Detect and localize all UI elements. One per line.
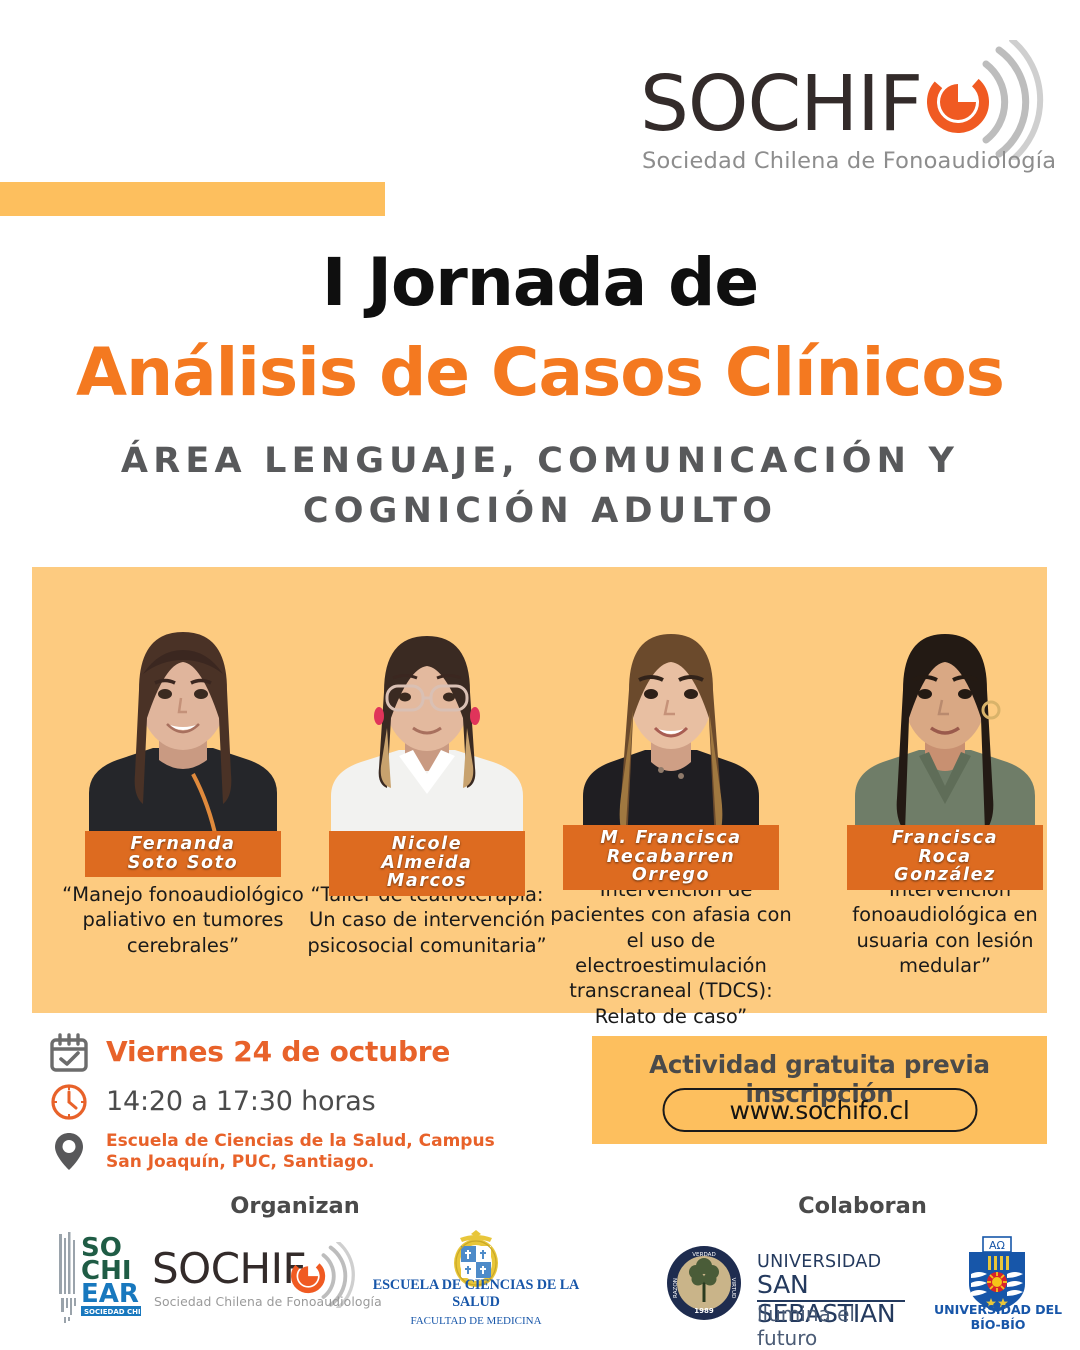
escuela-ciencias-salud-title: ESCUELA DE CIENCIAS DE LA SALUD (370, 1277, 582, 1311)
page-subtitle: ÁREA LENGUAJE, COMUNICACIÓN Y COGNICIÓN … (0, 437, 1080, 536)
sochifo-footer-logo: SOCHIF Sociedad Chilena de Fonoaudiologí… (152, 1248, 364, 1318)
page-title-line-2: Análisis de Casos Clínicos (0, 340, 1080, 406)
event-date-row: Viernes 24 de octubre (48, 1032, 568, 1074)
speaker-photo (325, 598, 529, 860)
speaker-card: Francisca Roca González “Intervención fo… (822, 567, 1068, 1013)
registration-card: Actividad gratuita previa inscripción ww… (592, 1036, 1047, 1144)
speaker-photo (843, 598, 1047, 860)
speaker-talk-title: “Manejo fonoaudiológico paliativo en tum… (60, 882, 306, 958)
poster-root: SOCHIF Sociedad Chilena de Fonoaudiologí… (0, 0, 1080, 1350)
escuela-ciencias-salud-subtitle: FACULTAD DE MEDICINA (370, 1315, 582, 1327)
svg-text:VERDAD: VERDAD (692, 1252, 716, 1258)
ubb-title: UNIVERSIDAD DEL BÍO-BÍO (927, 1302, 1069, 1332)
event-date-text: Viernes 24 de octubre (106, 1035, 450, 1068)
registration-url-button[interactable]: www.sochifo.cl (662, 1088, 977, 1132)
sochifo-footer-tagline: Sociedad Chilena de Fonoaudiología (154, 1294, 382, 1309)
calendar-check-icon (48, 1032, 90, 1074)
speaker-photo (569, 598, 773, 860)
speaker-card: M. Francisca Recabarren Orrego “Interven… (548, 567, 794, 1013)
collaborators-heading: Colaboran (750, 1193, 975, 1219)
speakers-panel: Fernanda Soto Soto “Manejo fonoaudiológi… (32, 567, 1047, 1013)
sochifo-header-logo: SOCHIF Sociedad Chilena de Fonoaudiologí… (640, 58, 1040, 183)
universidad-bio-bio-logo: AΩ UNIVERSIDAD DEL BÍO-BÍO (935, 1236, 1060, 1332)
escuela-ciencias-salud-logo: ESCUELA DE CIENCIAS DE LA SALUD FACULTAD… (370, 1228, 582, 1328)
speaker-photo (81, 598, 285, 860)
event-info-block: Viernes 24 de octubre 14:20 a 17:30 hora… (48, 1032, 568, 1179)
svg-text:VIRTUD: VIRTUD (730, 1278, 736, 1299)
uss-slogan: llumina el futuro (757, 1302, 905, 1350)
speaker-card: Nicole Almeida Marcos “Taller de teatrot… (304, 567, 550, 1013)
event-time-text: 14:20 a 17:30 horas (106, 1086, 375, 1117)
event-location-row: Escuela de Ciencias de la Salud, Campus … (48, 1130, 568, 1172)
speaker-name-bar: Francisca Roca González (847, 825, 1043, 890)
speaker-card: Fernanda Soto Soto “Manejo fonoaudiológi… (60, 567, 306, 1013)
uss-seal-icon: 1989 VERDAD RAZON VIRTUD (665, 1244, 743, 1322)
event-time-row: 14:20 a 17:30 horas (48, 1081, 568, 1123)
svg-text:1989: 1989 (694, 1307, 714, 1315)
svg-text:EAR: EAR (81, 1279, 139, 1309)
speaker-talk-title: “Intervención fonoaudiológica en usuaria… (822, 877, 1068, 978)
sochifo-wordmark: SOCHIF (640, 66, 922, 143)
clock-icon (48, 1081, 90, 1123)
svg-text:SOCIEDAD CHILENA: SOCIEDAD CHILENA (84, 1308, 155, 1316)
speaker-name-bar: Nicole Almeida Marcos (329, 831, 525, 896)
sochifo-tagline: Sociedad Chilena de Fonoaudiología (642, 148, 1056, 174)
sochiear-logo: SO CHI EAR SOCIEDAD CHILENA (55, 1228, 155, 1328)
map-pin-icon (48, 1130, 90, 1172)
sochifo-sound-wave-icon (906, 40, 1046, 160)
speaker-talk-title: “Intervención de pacientes con afasia co… (548, 877, 794, 1029)
universidad-san-sebastian-logo: 1989 VERDAD RAZON VIRTUD UNIVERSIDAD SAN… (665, 1242, 905, 1324)
svg-text:RAZON: RAZON (673, 1278, 679, 1298)
speaker-name-bar: M. Francisca Recabarren Orrego (563, 825, 779, 890)
speaker-name-bar: Fernanda Soto Soto (85, 831, 281, 877)
decorative-accent-bar (0, 182, 385, 216)
organizers-heading: Organizan (180, 1193, 410, 1219)
svg-text:AΩ: AΩ (989, 1239, 1005, 1252)
event-location-text: Escuela de Ciencias de la Salud, Campus … (106, 1131, 496, 1172)
page-title-line-1: I Jornada de (0, 250, 1080, 316)
uss-title-line1: UNIVERSIDAD (757, 1252, 881, 1272)
